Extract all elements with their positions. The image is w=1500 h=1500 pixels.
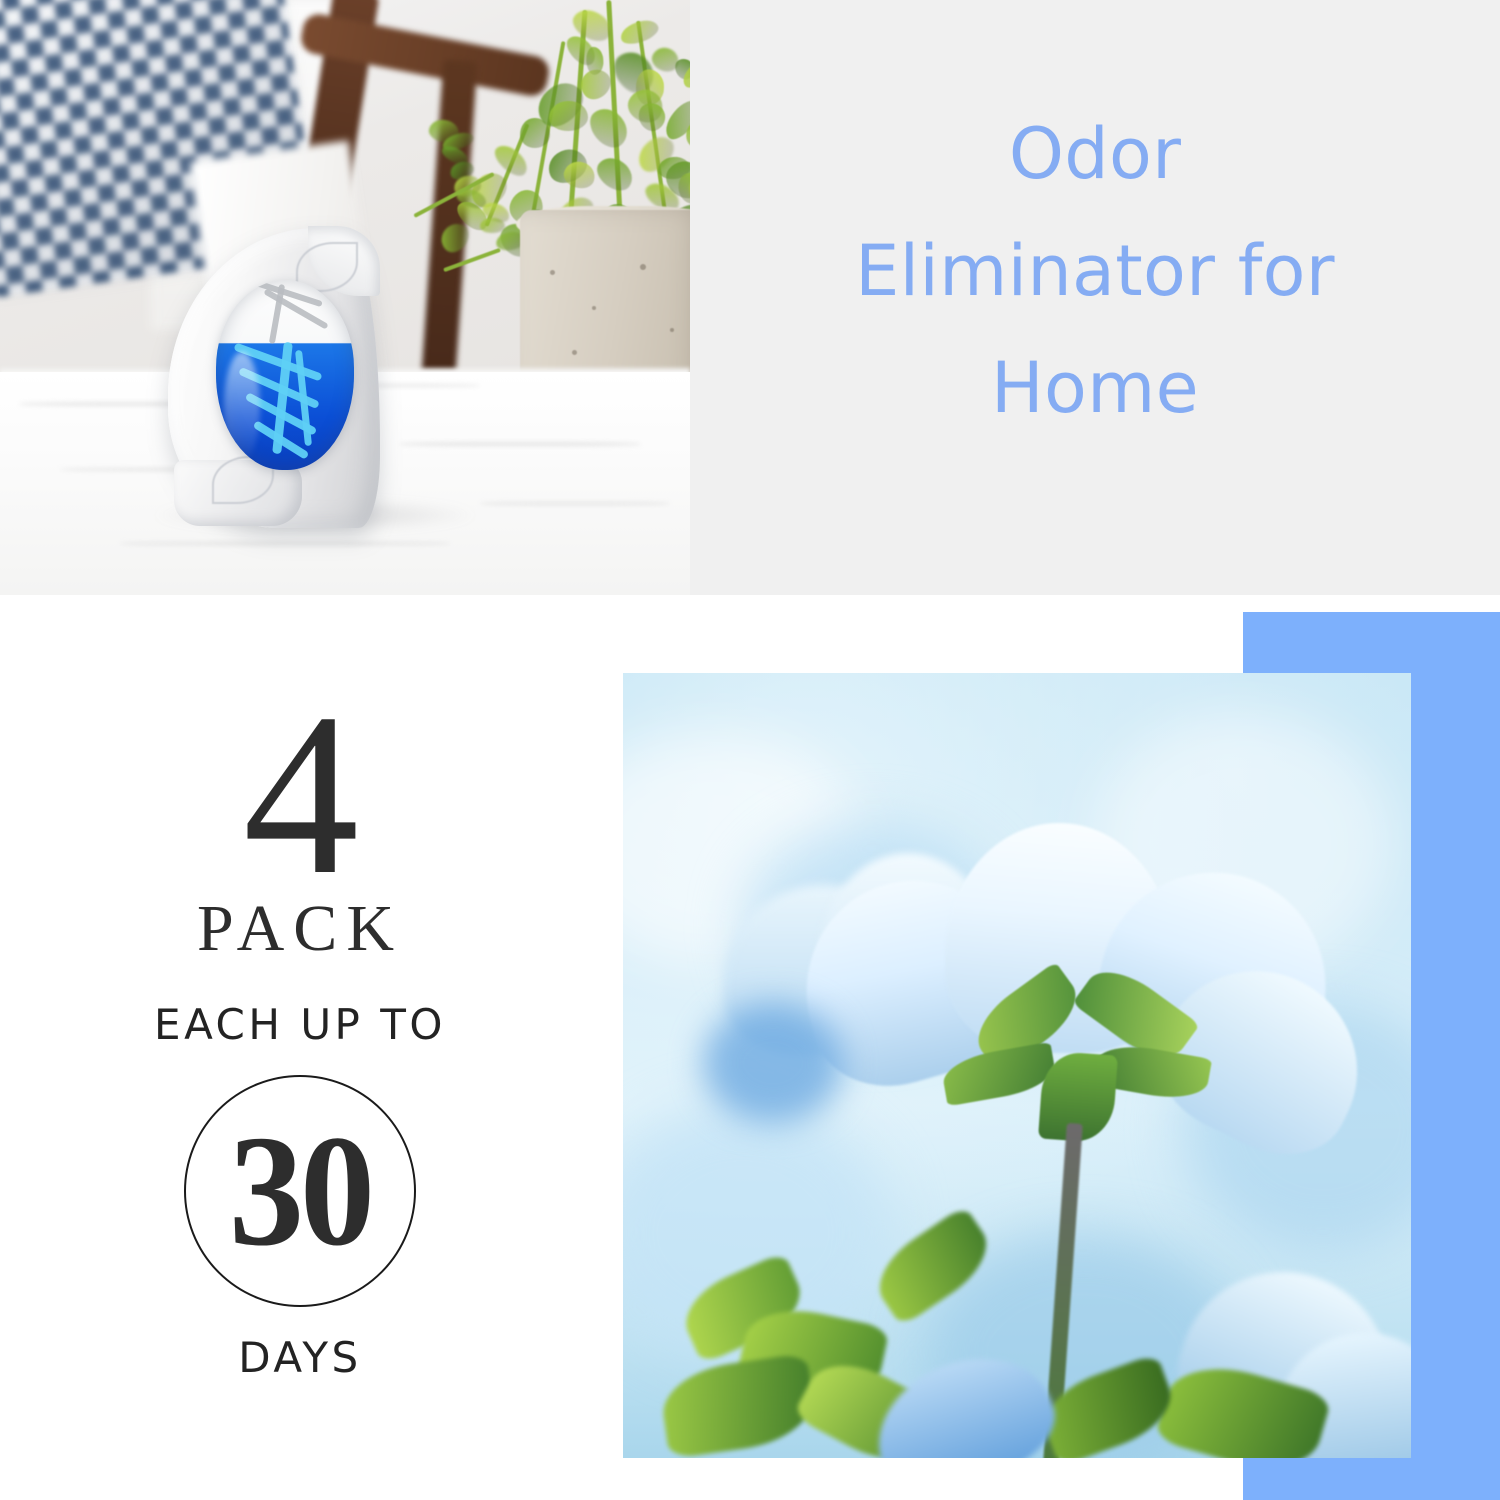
flower-photo <box>623 673 1411 1458</box>
hero-product-photo <box>0 0 690 595</box>
pack-unit-label: PACK <box>0 891 600 967</box>
duration-circle: 30 <box>184 1075 416 1307</box>
plant-leaf <box>548 100 588 131</box>
headline-line-3: Home <box>700 330 1490 447</box>
top-band: Odor Eliminator for Home <box>0 0 1500 595</box>
duration-prefix: EACH UP TO <box>0 1000 600 1049</box>
product-marketing-image: Odor Eliminator for Home <box>0 0 1500 1500</box>
headline-line-1: Odor <box>700 96 1490 213</box>
air-freshener-product <box>168 228 380 528</box>
gel-gloss <box>224 352 260 462</box>
lower-section: 4 PACK EACH UP TO 30 DAYS <box>0 595 1500 1500</box>
duration-value: 30 <box>229 1112 371 1271</box>
pack-callout: 4 PACK <box>0 695 600 967</box>
page-headline: Odor Eliminator for Home <box>700 96 1490 447</box>
duration-suffix: DAYS <box>0 1333 600 1382</box>
duration-callout: EACH UP TO 30 DAYS <box>0 1000 600 1382</box>
gel-window <box>216 280 354 470</box>
headline-line-2: Eliminator for <box>700 213 1490 330</box>
pack-count: 4 <box>0 695 600 895</box>
